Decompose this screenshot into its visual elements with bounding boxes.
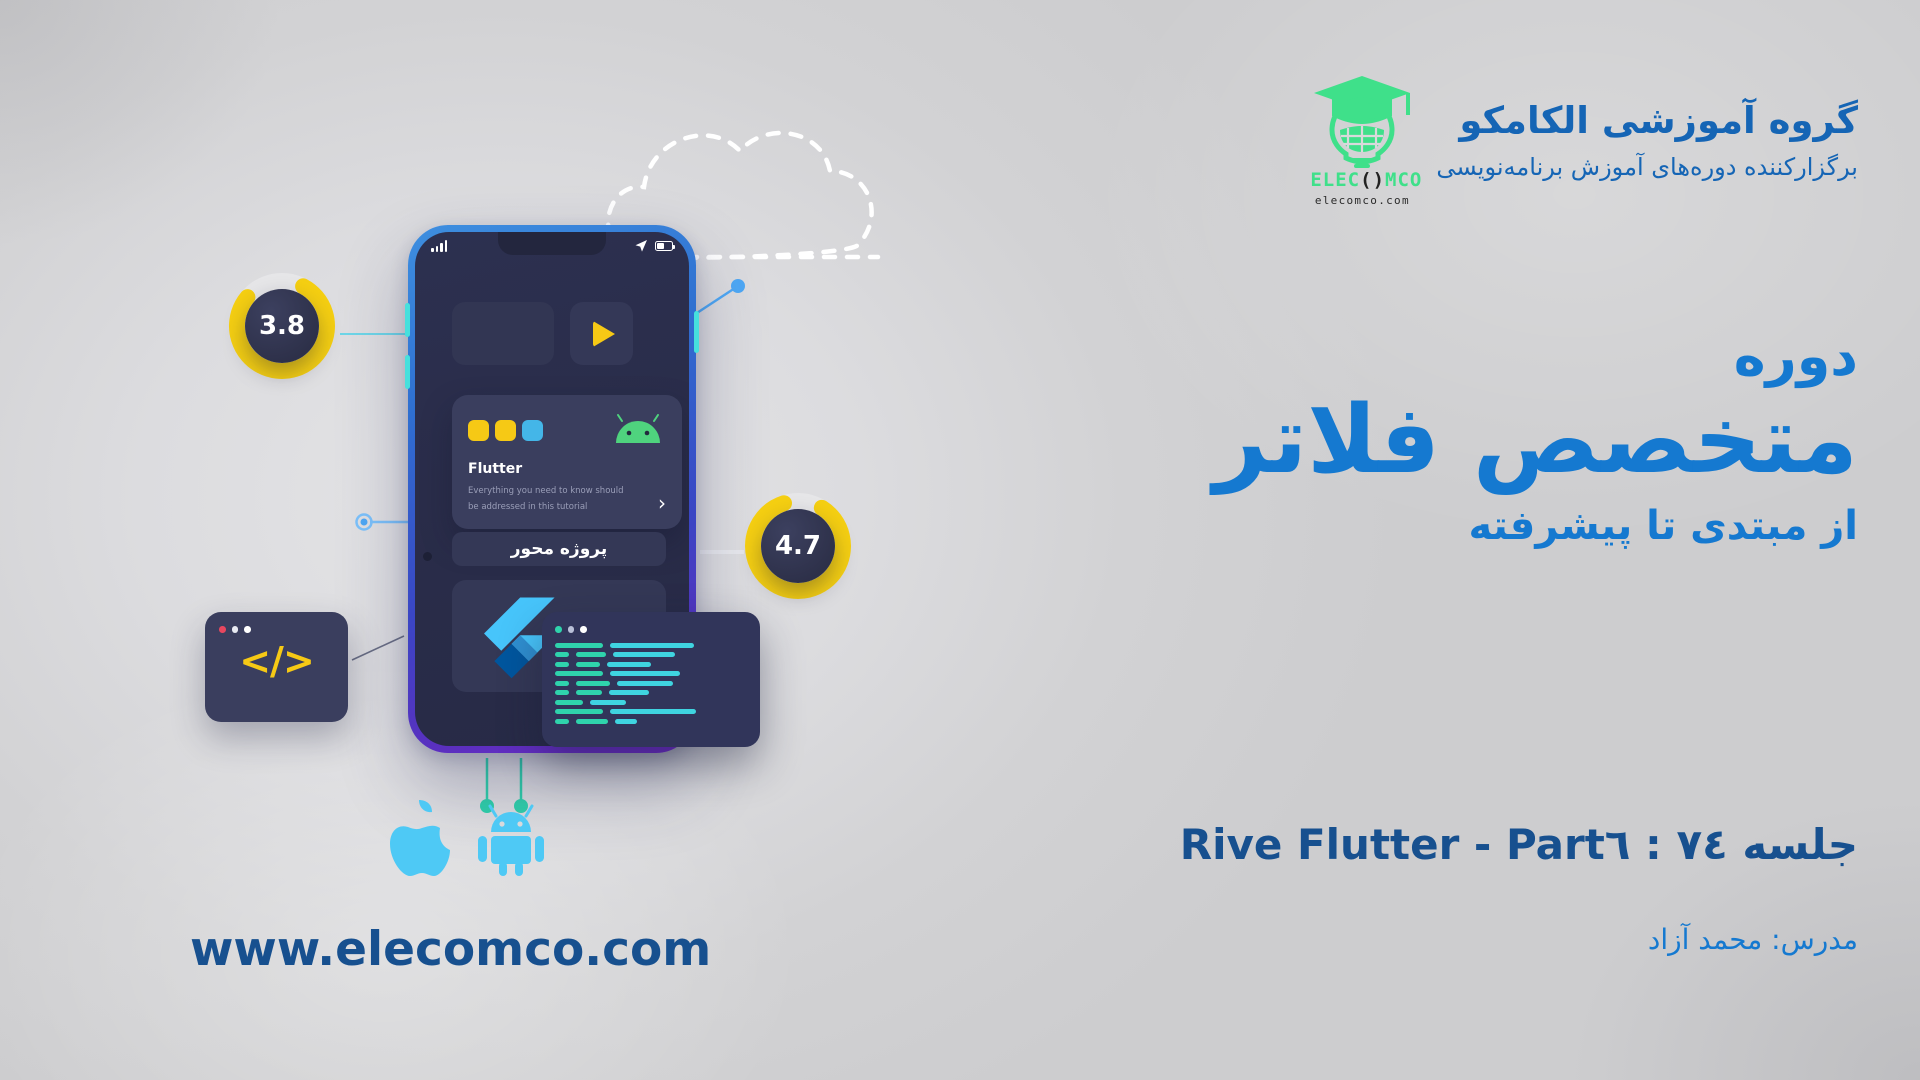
code-token (607, 662, 651, 667)
logo-word-left: ELEC (1310, 169, 1360, 191)
code-token (555, 643, 603, 648)
code-line (555, 690, 747, 695)
code-line (555, 709, 747, 714)
code-token (610, 709, 696, 714)
placeholder-tile[interactable] (452, 302, 554, 365)
instructor-name: مدرس: محمد آزاد (1180, 923, 1858, 956)
code-token (610, 671, 680, 676)
headline-block: دوره متخصص فلاتر از مبتدی تا پیشرفته (1213, 330, 1858, 549)
code-line (555, 719, 747, 724)
brand-title: گروه آموزشی الکامکو (1436, 98, 1858, 144)
session-title: جلسه ٧٤ : Part٦ - Rive Flutter (1180, 820, 1858, 869)
phone-power-button[interactable] (694, 311, 699, 353)
code-token (555, 690, 569, 695)
phone-volume-up-button[interactable] (405, 303, 410, 337)
top-tiles (452, 302, 633, 365)
code-card-dots (205, 612, 348, 633)
rating-value-47: 4.7 (761, 509, 835, 583)
hero-illustration: Flutter Everything you need to know shou… (0, 0, 1060, 1080)
window-dot-3 (580, 626, 587, 633)
code-line (555, 643, 747, 648)
apple-icon (388, 800, 452, 876)
brand-logo[interactable]: ELEC()MCO elecomco.com (1310, 72, 1414, 207)
code-token (555, 662, 569, 667)
code-token (555, 681, 569, 686)
code-line (555, 662, 747, 667)
code-line (555, 700, 747, 705)
code-token (613, 652, 675, 657)
android-icon (610, 413, 666, 447)
flutter-card-title: Flutter (468, 461, 666, 477)
code-token (576, 690, 602, 695)
flutter-course-card[interactable]: Flutter Everything you need to know shou… (452, 395, 682, 529)
rating-badge-38: 3.8 (228, 272, 336, 380)
code-line (555, 681, 747, 686)
graduation-lightbulb-icon (1310, 72, 1414, 168)
code-token (555, 652, 569, 657)
swatch-yellow-1 (468, 420, 489, 441)
logo-word-right: MCO (1385, 169, 1422, 191)
code-token (576, 662, 600, 667)
phone-camera-dot (423, 552, 432, 561)
code-snippet-window (542, 612, 760, 747)
card-dot-red (219, 626, 226, 633)
project-oriented-badge: پروژه محور (452, 532, 666, 566)
window-dot-2 (568, 626, 575, 633)
code-icon-card: </> (205, 612, 348, 722)
card-dot-2 (232, 626, 239, 633)
code-window-dots (555, 626, 747, 633)
brand-subtitle: برگزارکننده دوره‌های آموزش برنامه‌نویسی (1436, 153, 1858, 181)
page-title: متخصص فلاتر (1213, 388, 1858, 493)
status-bar (415, 239, 689, 253)
battery-icon (655, 241, 673, 251)
logo-domain: elecomco.com (1310, 194, 1414, 207)
swatch-yellow-2 (495, 420, 516, 441)
session-block: جلسه ٧٤ : Part٦ - Rive Flutter مدرس: محم… (1180, 820, 1858, 956)
headline-tagline: از مبتدی تا پیشرفته (1213, 503, 1858, 549)
code-token (555, 719, 569, 724)
code-token (610, 643, 694, 648)
code-token (609, 690, 649, 695)
brand-header: گروه آموزشی الکامکو برگزارکننده دوره‌های… (1310, 72, 1858, 207)
slide-canvas: Flutter Everything you need to know shou… (0, 0, 1920, 1080)
code-token (615, 719, 637, 724)
code-token (576, 681, 610, 686)
color-swatches (468, 420, 543, 441)
signal-bars-icon (431, 240, 447, 252)
chevron-right-icon[interactable]: › (658, 493, 666, 515)
window-dot-1 (555, 626, 562, 633)
code-token (590, 700, 626, 705)
code-token (555, 709, 603, 714)
code-token (555, 700, 583, 705)
play-icon (593, 321, 615, 347)
brand-text: گروه آموزشی الکامکو برگزارکننده دوره‌های… (1436, 98, 1858, 180)
code-lines (555, 643, 747, 724)
code-token (617, 681, 673, 686)
android-icon (474, 800, 552, 876)
website-url[interactable]: www.elecomco.com (190, 922, 711, 977)
card-dot-3 (244, 626, 251, 633)
logo-wordmark: ELEC()MCO (1310, 169, 1414, 191)
rating-badge-47: 4.7 (744, 492, 852, 600)
code-line (555, 652, 747, 657)
code-line (555, 671, 747, 676)
phone-volume-down-button[interactable] (405, 355, 410, 389)
rating-value-38: 3.8 (245, 289, 319, 363)
logo-word-mid: () (1360, 169, 1385, 191)
headline-eyebrow: دوره (1213, 330, 1858, 384)
content-panel: گروه آموزشی الکامکو برگزارکننده دوره‌های… (1078, 0, 1858, 1080)
code-token (576, 652, 606, 657)
code-token (555, 671, 603, 676)
swatch-blue (522, 420, 543, 441)
code-tag-icon: </> (205, 639, 348, 683)
play-tile[interactable] (570, 302, 633, 365)
project-oriented-label: پروژه محور (511, 539, 608, 559)
code-token (576, 719, 608, 724)
location-arrow-icon (634, 239, 648, 253)
platform-icons (388, 800, 552, 876)
flutter-card-description: Everything you need to know should be ad… (468, 483, 628, 515)
